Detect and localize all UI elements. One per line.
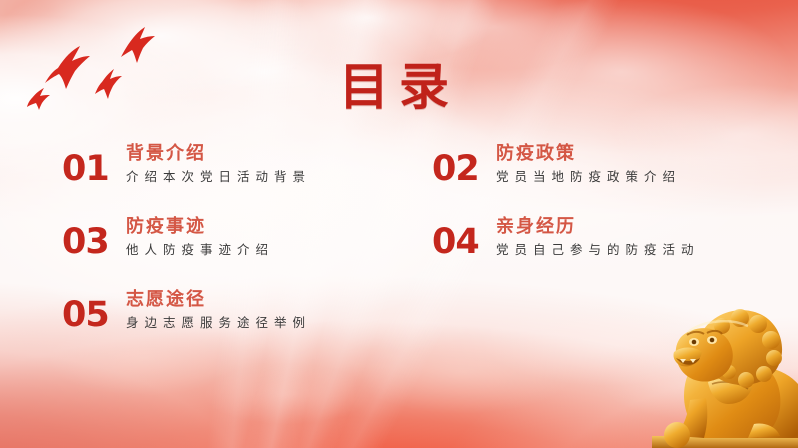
toc-heading: 背景介绍 [126, 143, 311, 166]
toc-item-02[interactable]: 02 防疫政策 党员当地防疫政策介绍 [432, 143, 762, 216]
toc-item-04[interactable]: 04 亲身经历 党员自己参与的防疫活动 [432, 216, 762, 289]
toc-heading: 志愿途径 [126, 289, 311, 312]
toc-number: 01 [62, 143, 114, 187]
toc-text: 防疫事迹 他人防疫事迹介绍 [126, 216, 274, 259]
toc-subtitle: 党员当地防疫政策介绍 [496, 168, 681, 186]
toc-number: 03 [62, 216, 114, 260]
toc-heading: 防疫事迹 [126, 216, 274, 239]
toc-text: 背景介绍 介绍本次党日活动背景 [126, 143, 311, 186]
toc-item-05[interactable]: 05 志愿途径 身边志愿服务途径举例 [62, 289, 432, 362]
toc-text: 防疫政策 党员当地防疫政策介绍 [496, 143, 681, 186]
toc-number: 04 [432, 216, 484, 260]
toc-item-03[interactable]: 03 防疫事迹 他人防疫事迹介绍 [62, 216, 432, 289]
toc-subtitle: 身边志愿服务途径举例 [126, 314, 311, 332]
slide-title: 目录 [0, 62, 798, 112]
toc-heading: 亲身经历 [496, 216, 700, 239]
toc-number: 02 [432, 143, 484, 187]
bird-upper-right-icon [121, 27, 155, 63]
toc-text: 亲身经历 党员自己参与的防疫活动 [496, 216, 700, 259]
toc-subtitle: 他人防疫事迹介绍 [126, 241, 274, 259]
toc-text: 志愿途径 身边志愿服务途径举例 [126, 289, 311, 332]
toc-number: 05 [62, 289, 114, 333]
table-of-contents: 01 背景介绍 介绍本次党日活动背景 02 防疫政策 党员当地防疫政策介绍 03… [62, 143, 762, 362]
lion-paw-ball [664, 422, 690, 448]
toc-item-01[interactable]: 01 背景介绍 介绍本次党日活动背景 [62, 143, 432, 216]
toc-subtitle: 介绍本次党日活动背景 [126, 168, 311, 186]
toc-heading: 防疫政策 [496, 143, 681, 166]
toc-subtitle: 党员自己参与的防疫活动 [496, 241, 700, 259]
presentation-slide: 目录 01 背景介绍 介绍本次党日活动背景 02 防疫政策 党员当地防疫政策介绍… [0, 0, 798, 448]
